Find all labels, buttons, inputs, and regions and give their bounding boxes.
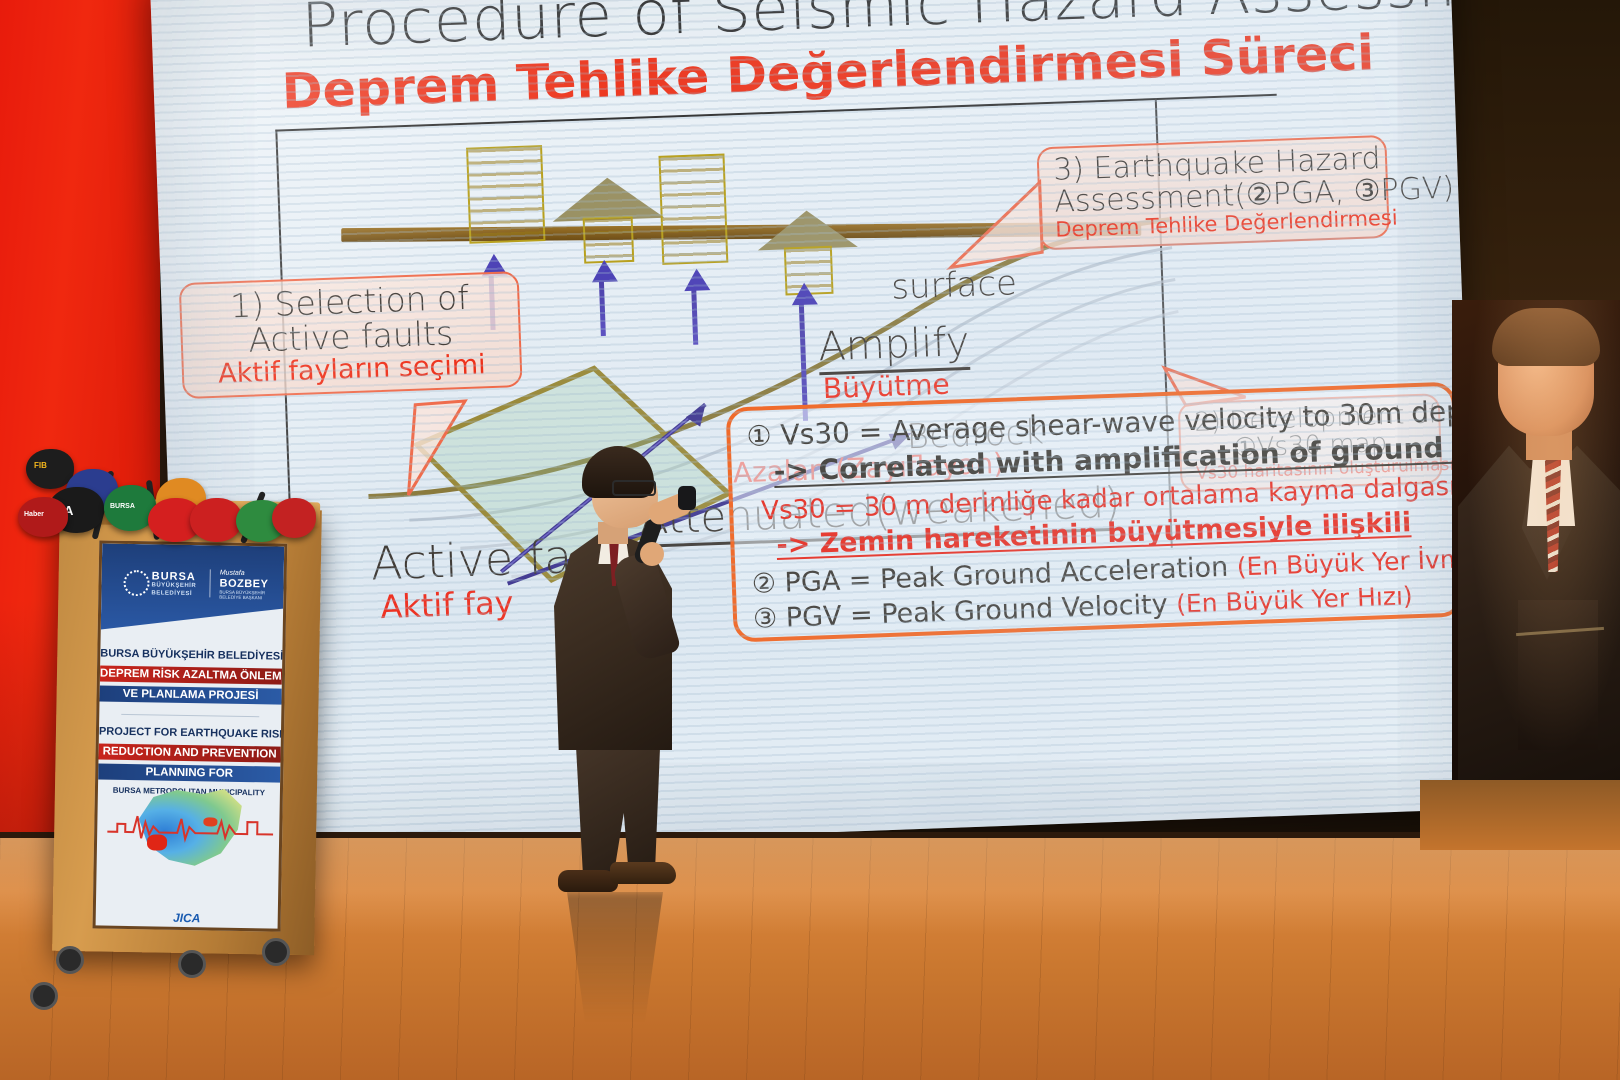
banner-tr-band-blue: VE PLANLAMA PROJESİ — [99, 685, 281, 704]
presenter — [536, 446, 706, 894]
microphone-flag-10 — [272, 498, 316, 538]
hazard-map-graphic — [102, 754, 275, 905]
banner-mayor-name: BOZBEY — [219, 578, 268, 591]
lectern: BURSA BÜYÜKŞEHİR BELEDİYESİ Mustafa BOZB… — [52, 506, 322, 956]
bursa-crest-icon — [123, 570, 149, 596]
presenter-hand — [640, 542, 664, 566]
jica-logo: JICA — [96, 909, 278, 926]
lectern-caster-middle — [178, 950, 206, 978]
lectern-caster-right — [262, 938, 290, 966]
banner-mayor-title: BURSA BÜYÜKŞEHİR BELEDİYE BAŞKANI — [219, 590, 283, 601]
infobox-line-6-tr: (En Büyük Yer Hızı) — [1176, 581, 1413, 618]
presenter-glasses — [612, 480, 656, 496]
mic-label-1: FIB — [34, 461, 47, 470]
presenter-shoe-left — [558, 870, 618, 892]
banner-tr-band-red: DEPREM RİSK AZALTMA ÖNLEME — [100, 665, 282, 684]
lectern-caster-left — [56, 946, 84, 974]
portrait-lighting — [1452, 300, 1620, 810]
presenter-shoe-right — [610, 862, 676, 884]
mic-label-4: Haber — [24, 511, 44, 518]
microphone-flag-8 — [190, 498, 242, 542]
banner-header: BURSA BÜYÜKŞEHİR BELEDİYESİ Mustafa BOZB… — [101, 543, 284, 632]
projection-screen-wrapper: Procedure of Seismic Hazard Assessment D… — [150, 0, 1481, 863]
definitions-info-box: ① Vs30 = Average shear-wave velocity to … — [726, 382, 1464, 643]
banner-logo-main: BURSA — [152, 570, 196, 583]
banner-en-title: PROJECT FOR EARTHQUAKE RISK — [99, 725, 281, 740]
microphone-flag-4: Haber — [18, 497, 68, 537]
infobox-line-5-tr: (En Büyük Yer İvmesi) — [1236, 543, 1480, 582]
ataturk-portrait — [1452, 300, 1620, 810]
banner-logo-divider — [209, 569, 210, 597]
presentation-clicker — [678, 486, 696, 510]
banner-divider-rule — [121, 714, 259, 717]
banner-logo-sub2: BELEDİYESİ — [151, 590, 192, 597]
mic-label-5: BURSA — [110, 503, 135, 510]
slide-content: Procedure of Seismic Hazard Assessment D… — [150, 0, 1480, 855]
seismograph-trace-icon — [107, 808, 274, 847]
projection-screen: Procedure of Seismic Hazard Assessment D… — [150, 0, 1480, 855]
banner-logo-sub1: BÜYÜKŞEHİR — [151, 582, 196, 589]
stage-scene: Procedure of Seismic Hazard Assessment D… — [0, 0, 1620, 1080]
banner-tr-title: BURSA BÜYÜKŞEHİR BELEDİYESİ — [100, 647, 282, 662]
lectern-banner: BURSA BÜYÜKŞEHİR BELEDİYESİ Mustafa BOZB… — [93, 540, 288, 931]
lectern-caster-front — [30, 982, 58, 1010]
floor-right-extension — [1420, 780, 1620, 850]
banner-mayor-script: Mustafa — [220, 570, 245, 577]
